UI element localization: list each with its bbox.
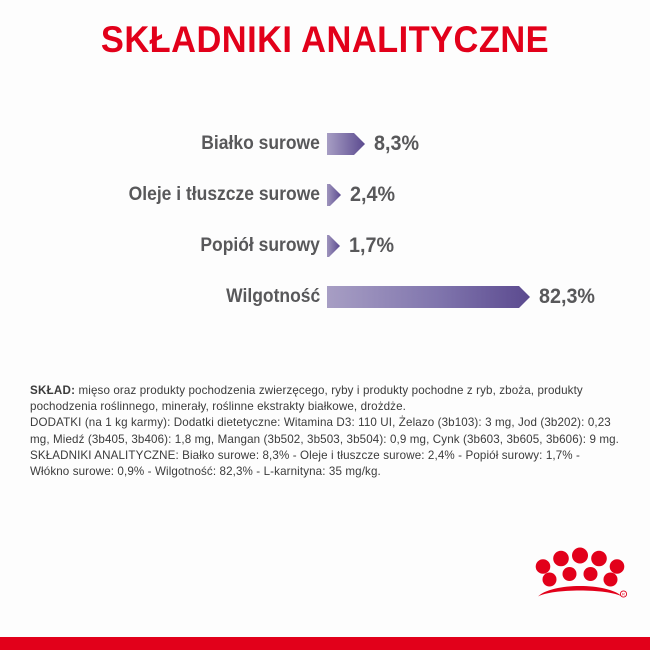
composition-paragraph: SKŁAD: mięso oraz produkty pochodzenia z… — [30, 383, 622, 415]
chart-row-label: Popiół surowy — [201, 235, 320, 257]
analytical-constituents-page: SKŁADNIKI ANALITYCZNE Białko surowe 8,3% — [0, 0, 650, 650]
chart-bar-value: 1,7% — [349, 234, 394, 258]
chart-bar-group: 2,4% — [327, 184, 398, 206]
chart-bar-group: 82,3% — [327, 286, 599, 308]
page-title: SKŁADNIKI ANALITYCZNE — [23, 17, 628, 63]
additives-paragraph: DODATKI (na 1 kg karmy): Dodatki dietety… — [30, 415, 622, 447]
chart-bar-value: 2,4% — [350, 183, 395, 207]
composition-body-text: mięso oraz produkty pochodzenia zwierzęc… — [30, 384, 583, 413]
royal-canin-crown-logo: R — [532, 546, 628, 602]
chart-bar — [327, 133, 365, 155]
chart-bar — [327, 286, 530, 308]
chart-bar — [327, 235, 340, 257]
chart-row: Wilgotność 82,3% — [0, 271, 650, 322]
chart-row: Oleje i tłuszcze surowe 2,4% — [0, 169, 650, 220]
chart-bar-value: 82,3% — [539, 285, 595, 309]
chart-bar-value: 8,3% — [374, 132, 419, 156]
chart-row-label: Oleje i tłuszcze surowe — [129, 184, 320, 206]
bottom-red-stripe — [0, 637, 650, 650]
chart-bar-group: 1,7% — [327, 235, 397, 257]
composition-text-block: SKŁAD: mięso oraz produkty pochodzenia z… — [30, 383, 622, 480]
analytical-constituents-chart: Białko surowe 8,3% Oleje i tłuszcze suro… — [0, 118, 650, 322]
composition-lead-label: SKŁAD: — [30, 384, 75, 397]
chart-row: Białko surowe 8,3% — [0, 118, 650, 169]
chart-bar-group: 8,3% — [327, 133, 422, 155]
analytical-constituents-paragraph: SKŁADNIKI ANALITYCZNE: Białko surowe: 8,… — [30, 448, 622, 480]
chart-row: Popiół surowy 1,7% — [0, 220, 650, 271]
svg-text:R: R — [622, 592, 625, 597]
chart-bar — [327, 184, 341, 206]
chart-row-label: Wilgotność — [226, 286, 320, 308]
chart-row-label: Białko surowe — [201, 133, 320, 155]
crown-icon: R — [532, 546, 628, 602]
